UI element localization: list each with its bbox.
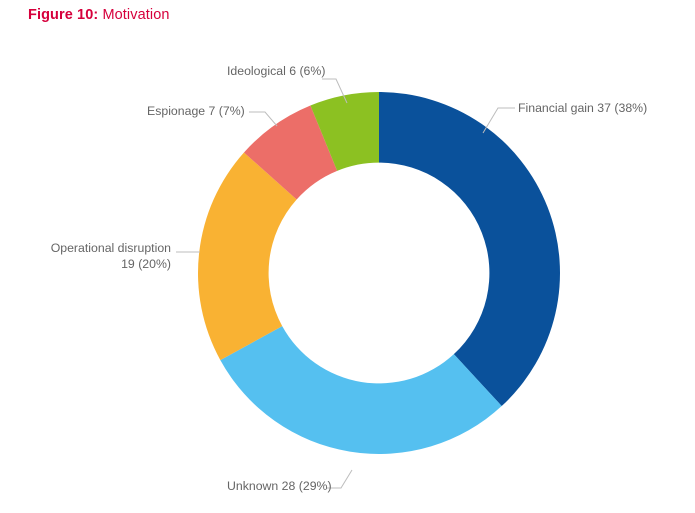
slice-label-espionage: Espionage 7 (7%) [147,103,245,119]
slice-label-unknown: Unknown 28 (29%) [227,478,332,494]
figure-container: Figure 10: Motivation Financial gain 37 … [0,0,695,513]
slice-label-operational-disruption-line2: 19 (20%) [121,257,171,271]
donut-slices-group [198,92,560,454]
donut-chart: Financial gain 37 (38%) Ideological 6 (6… [0,0,695,513]
slice-label-financial-gain: Financial gain 37 (38%) [518,100,647,116]
slice-label-operational-disruption-line1: Operational disruption [51,241,171,255]
donut-slice-unknown [220,326,501,454]
slice-label-ideological: Ideological 6 (6%) [227,63,325,79]
donut-slice-financial-gain [379,92,560,406]
slice-label-operational-disruption: Operational disruption 19 (20%) [33,240,171,272]
leader-line-espionage [249,112,277,126]
